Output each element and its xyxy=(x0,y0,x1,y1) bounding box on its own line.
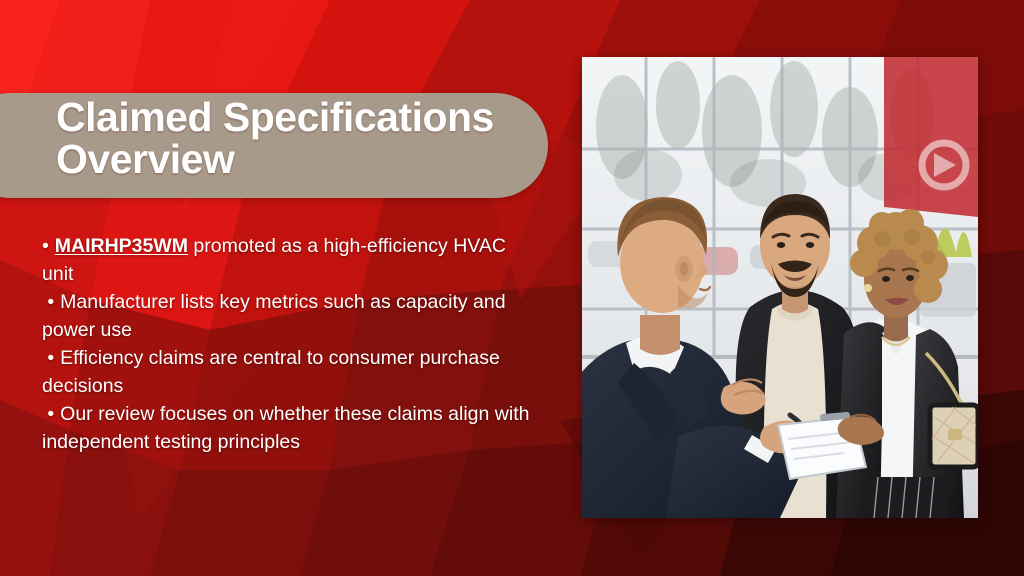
showroom-consultation-illustration xyxy=(582,57,978,518)
product-model-emphasis: MAIRHP35WM xyxy=(55,235,188,257)
bullet-marker: • xyxy=(47,403,54,425)
bullet-marker: • xyxy=(42,235,49,257)
bullet-marker: • xyxy=(47,291,54,313)
bullet-marker: • xyxy=(47,347,54,369)
slide-canvas: Claimed Specifications Overview • MAIRHP… xyxy=(0,0,1024,576)
page-title: Claimed Specifications Overview xyxy=(56,96,536,180)
bullet-list: • MAIRHP35WM promoted as a high-efficien… xyxy=(42,232,534,456)
list-item-text: Manufacturer lists key metrics such as c… xyxy=(42,291,506,341)
list-item: • Manufacturer lists key metrics such as… xyxy=(42,288,534,344)
list-item-text: Efficiency claims are central to consume… xyxy=(42,347,500,397)
list-item: • MAIRHP35WM promoted as a high-efficien… xyxy=(42,232,534,288)
list-item: • Our review focuses on whether these cl… xyxy=(42,400,534,456)
slide-photo xyxy=(582,57,978,518)
list-item-text: Our review focuses on whether these clai… xyxy=(42,403,529,453)
list-item: • Efficiency claims are central to consu… xyxy=(42,344,534,400)
